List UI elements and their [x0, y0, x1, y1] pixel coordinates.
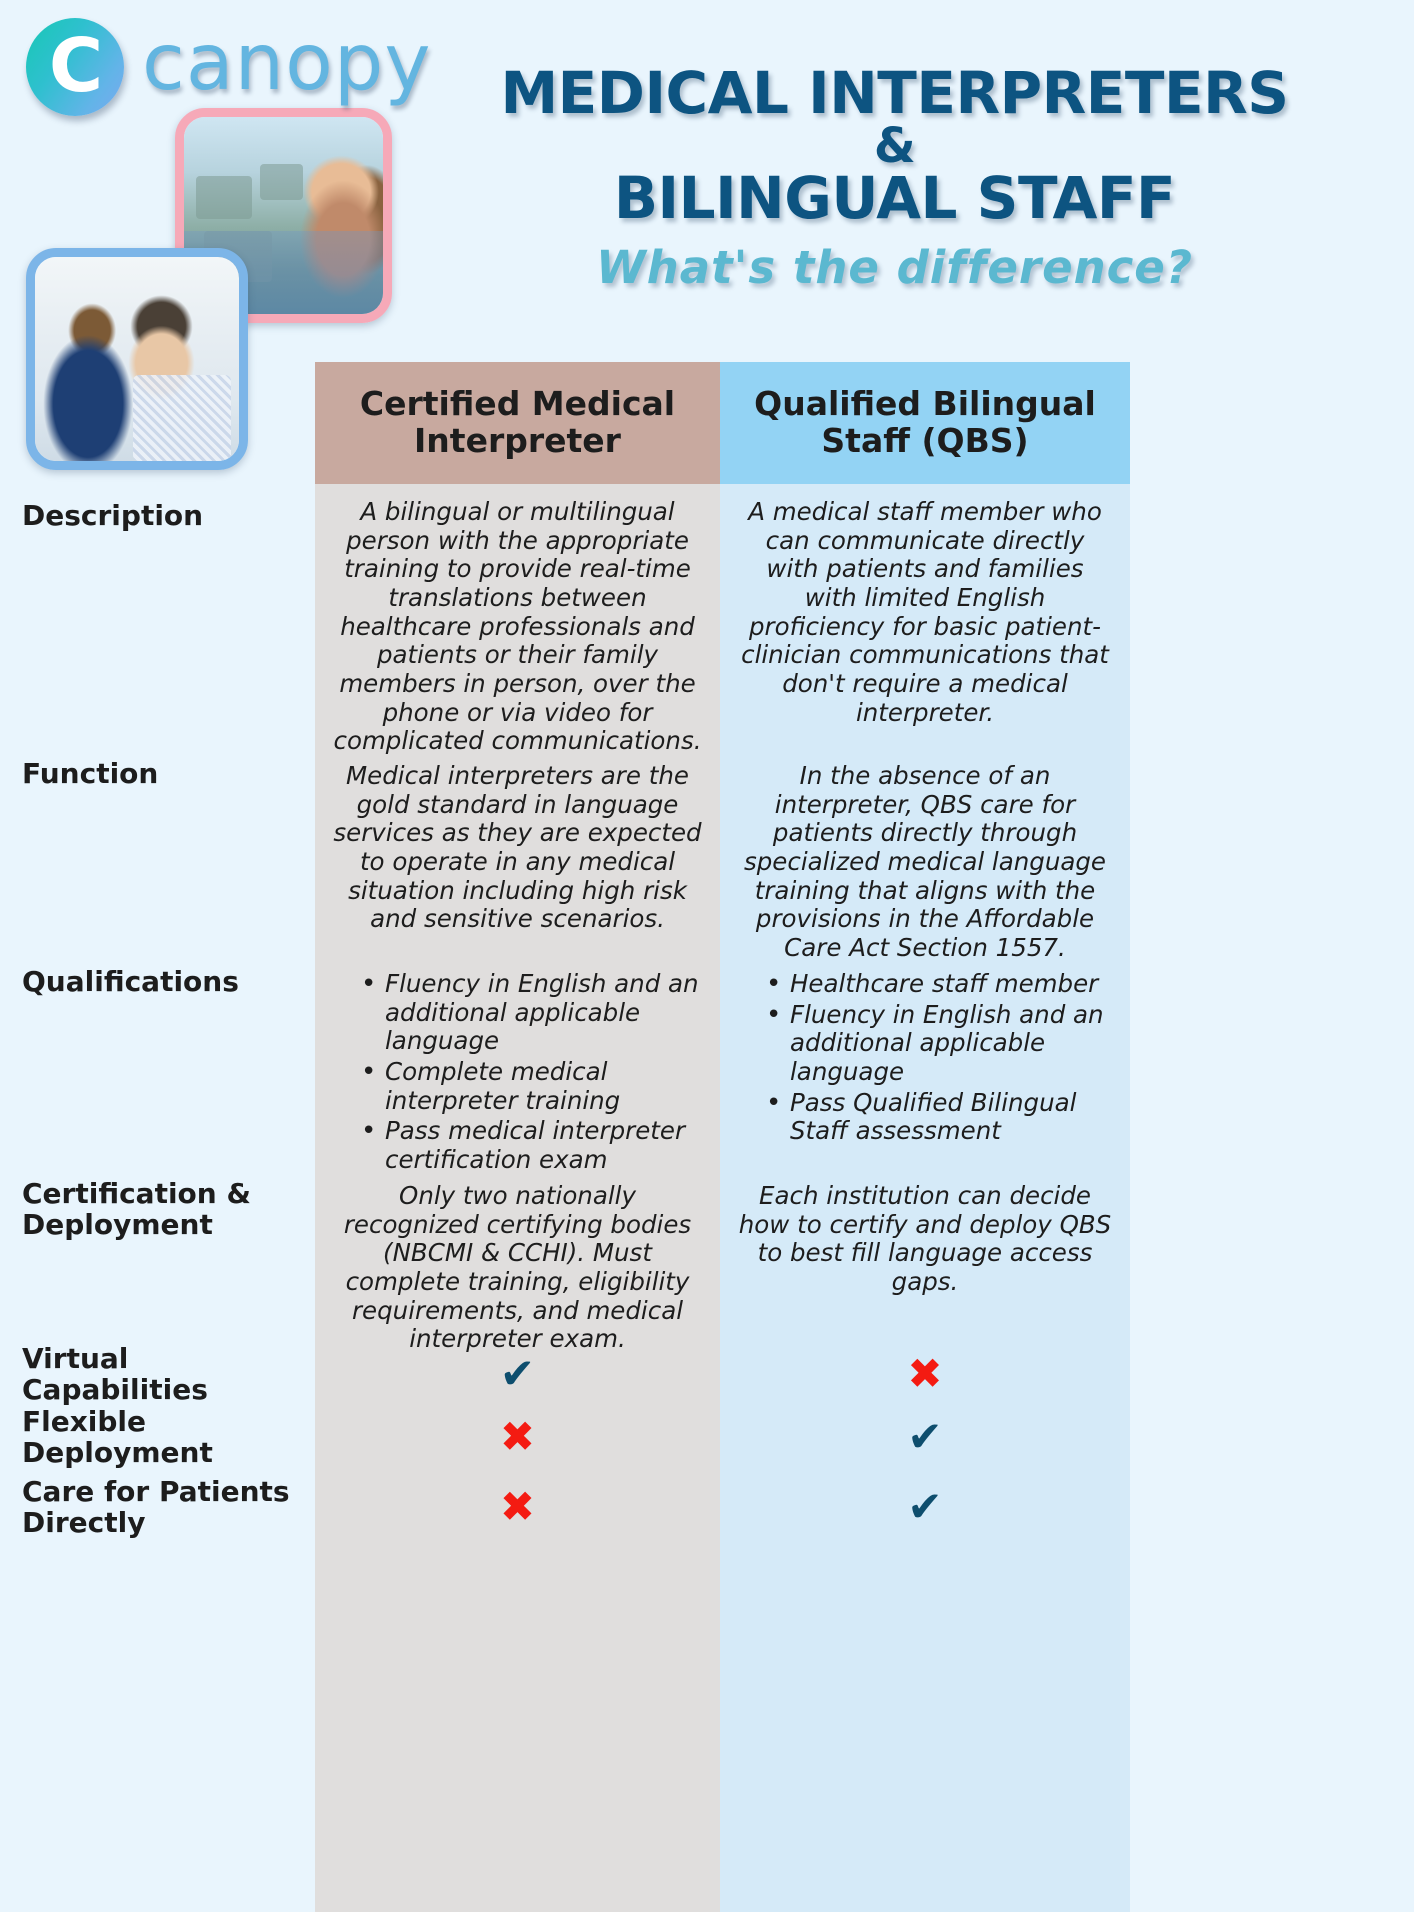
label-column-tail: [0, 1546, 315, 1912]
row-label-certification-line2: Deployment: [22, 1209, 251, 1240]
title-line-1: MEDICAL INTERPRETERS: [395, 66, 1394, 121]
cell-cmi-virtual-capabilities-check-icon: ✔: [315, 1342, 720, 1406]
list-item: Complete medical interpreter training: [357, 1058, 702, 1115]
comparison-table: Description Function Qualifications Cert…: [0, 362, 1414, 1912]
cell-cmi-qualifications: Fluency in English and an additional app…: [315, 950, 720, 1162]
page-title: MEDICAL INTERPRETERS & BILINGUAL STAFF W…: [395, 66, 1394, 294]
page-subtitle: What's the difference?: [395, 241, 1394, 294]
cmi-qualifications-list: Fluency in English and an additional app…: [333, 970, 702, 1175]
cell-cmi-care-for-patients-cross-icon: ✖: [315, 1468, 720, 1546]
cell-qbs-care-for-patients-check-icon: ✔: [720, 1468, 1130, 1546]
table-right-padding: [1130, 362, 1414, 1912]
list-item: Pass Qualified Bilingual Staff assessmen…: [762, 1089, 1112, 1146]
row-label-function: Function: [0, 742, 315, 950]
cell-qbs-virtual-capabilities-cross-icon: ✖: [720, 1342, 1130, 1406]
cell-cmi-description: A bilingual or multilingual person with …: [315, 484, 720, 742]
row-label-description: Description: [0, 484, 315, 742]
list-item: Fluency in English and an additional app…: [762, 1001, 1112, 1087]
row-label-care-for-patients-directly: Care for Patients Directly: [0, 1468, 315, 1546]
list-item: Fluency in English and an additional app…: [357, 970, 702, 1056]
cell-qbs-description: A medical staff member who can communica…: [720, 484, 1130, 742]
cell-qbs-flexible-deployment-check-icon: ✔: [720, 1406, 1130, 1468]
qbs-qualifications-list: Healthcare staff member Fluency in Engli…: [738, 970, 1112, 1146]
column-certified-medical-interpreter: Certified Medical Interpreter A bilingua…: [315, 362, 720, 1912]
page-header: C canopy MEDICAL INTERPRETERS & BILINGUA…: [0, 0, 1414, 360]
row-label-virtual-capabilities: Virtual Capabilities: [0, 1342, 315, 1406]
column-header-qualified-bilingual-staff: Qualified Bilingual Staff (QBS): [720, 362, 1130, 484]
brand-logo[interactable]: C canopy: [26, 18, 432, 116]
cell-qbs-function: In the absence of an interpreter, QBS ca…: [720, 742, 1130, 950]
row-label-care-line1: Care for Patients: [22, 1476, 290, 1507]
list-item: Pass medical interpreter certification e…: [357, 1117, 702, 1174]
nurse-patient-photo-image: [35, 257, 239, 461]
cell-cmi-certification-deployment: Only two nationally recognized certifyin…: [315, 1162, 720, 1342]
brand-wordmark: canopy: [142, 24, 432, 110]
cell-cmi-flexible-deployment-cross-icon: ✖: [315, 1406, 720, 1468]
row-label-flexible-deployment: Flexible Deployment: [0, 1406, 315, 1468]
row-label-certification-deployment: Certification & Deployment: [0, 1162, 315, 1342]
row-label-column: Description Function Qualifications Cert…: [0, 362, 315, 1912]
canopy-circle-logo-icon: C: [26, 18, 124, 116]
list-item: Healthcare staff member: [762, 970, 1112, 999]
row-label-certification-line1: Certification &: [22, 1178, 251, 1209]
row-label-care-line2: Directly: [22, 1507, 290, 1538]
column-header-certified-medical-interpreter: Certified Medical Interpreter: [315, 362, 720, 484]
cmi-column-tail: [315, 1546, 720, 1912]
qbs-column-tail: [720, 1546, 1130, 1912]
logo-letter-c: C: [49, 38, 101, 96]
column-qualified-bilingual-staff: Qualified Bilingual Staff (QBS) A medica…: [720, 362, 1130, 1912]
title-line-2: BILINGUAL STAFF: [395, 171, 1394, 226]
cell-qbs-qualifications: Healthcare staff member Fluency in Engli…: [720, 950, 1130, 1162]
row-label-qualifications: Qualifications: [0, 950, 315, 1162]
cell-cmi-function: Medical interpreters are the gold standa…: [315, 742, 720, 950]
nurse-patient-photo: [26, 248, 248, 470]
cell-qbs-certification-deployment: Each institution can decide how to certi…: [720, 1162, 1130, 1342]
